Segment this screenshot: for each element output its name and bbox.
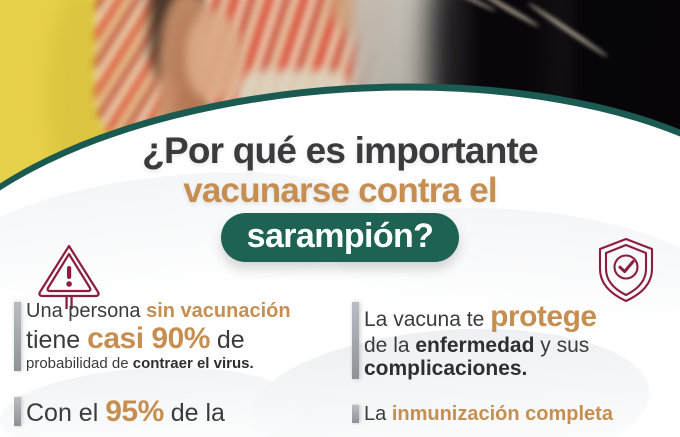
fact-no-vaccination: Una persona sin vacunación tiene casi 90… <box>14 300 344 373</box>
fact-full-immunization: La inmunización completa <box>352 403 680 425</box>
fact-text-segment: probabilidad de <box>26 355 133 372</box>
facts-column-right: La vacuna te protege de la enfermedad y … <box>352 300 680 437</box>
fact-highlight: inmunización completa <box>392 403 613 425</box>
fact-vaccine-protects: La vacuna te protege de la enfermedad y … <box>352 300 680 381</box>
infographic-poster: ¿Por qué es importante vacunarse contra … <box>0 0 680 437</box>
fact-line: Una persona sin vacunación <box>26 300 344 322</box>
fact-herd-immunity: Con el 95% de la <box>14 395 344 429</box>
fact-text-segment: tiene <box>26 326 87 354</box>
fact-line: La inmunización completa <box>364 403 680 425</box>
fact-emphasis: contraer el virus. <box>133 355 254 372</box>
fact-text: Una persona sin vacunación tiene casi 90… <box>26 300 344 373</box>
fact-line: Con el 95% de la <box>26 395 344 429</box>
fact-text-segment: Una persona <box>26 300 146 322</box>
fact-line: La vacuna te protege <box>364 300 680 334</box>
fact-text: La vacuna te protege de la enfermedad y … <box>364 300 680 381</box>
title-line-3-row: sarampión? <box>0 213 680 262</box>
fact-highlight: sin vacunación <box>146 300 291 322</box>
fact-emphasis: complicaciones. <box>364 357 527 380</box>
fact-text-segment: La vacuna te <box>364 308 490 331</box>
fact-text: Con el 95% de la <box>26 395 344 429</box>
fact-highlight: protege <box>490 300 597 333</box>
title-line-2: vacunarse contra el <box>0 173 680 208</box>
fact-text-segment: de la <box>164 399 225 427</box>
fact-text: La inmunización completa <box>364 403 680 425</box>
fact-line: de la enfermedad y sus <box>364 334 680 358</box>
fact-line: complicaciones. <box>364 357 680 381</box>
fact-line: tiene casi 90% de <box>26 322 344 356</box>
fact-text-segment: Con el <box>26 399 105 427</box>
title-line-1: ¿Por qué es importante <box>0 132 680 169</box>
page-title: ¿Por qué es importante vacunarse contra … <box>0 132 680 262</box>
fact-stat-value: 95% <box>105 395 164 428</box>
facts-column-left: Una persona sin vacunación tiene casi 90… <box>14 300 344 437</box>
fact-text-segment: La <box>364 403 392 425</box>
fact-line: probabilidad de contraer el virus. <box>26 356 344 373</box>
photo-adult-hand <box>185 10 243 100</box>
fact-stat-value: casi 90% <box>87 322 210 355</box>
fact-text-segment: de <box>210 326 245 354</box>
title-pill-badge: sarampión? <box>221 213 460 262</box>
fact-text-segment: de la <box>364 334 415 357</box>
fact-emphasis: enfermedad <box>415 334 534 357</box>
fact-text-segment: y sus <box>534 334 589 357</box>
